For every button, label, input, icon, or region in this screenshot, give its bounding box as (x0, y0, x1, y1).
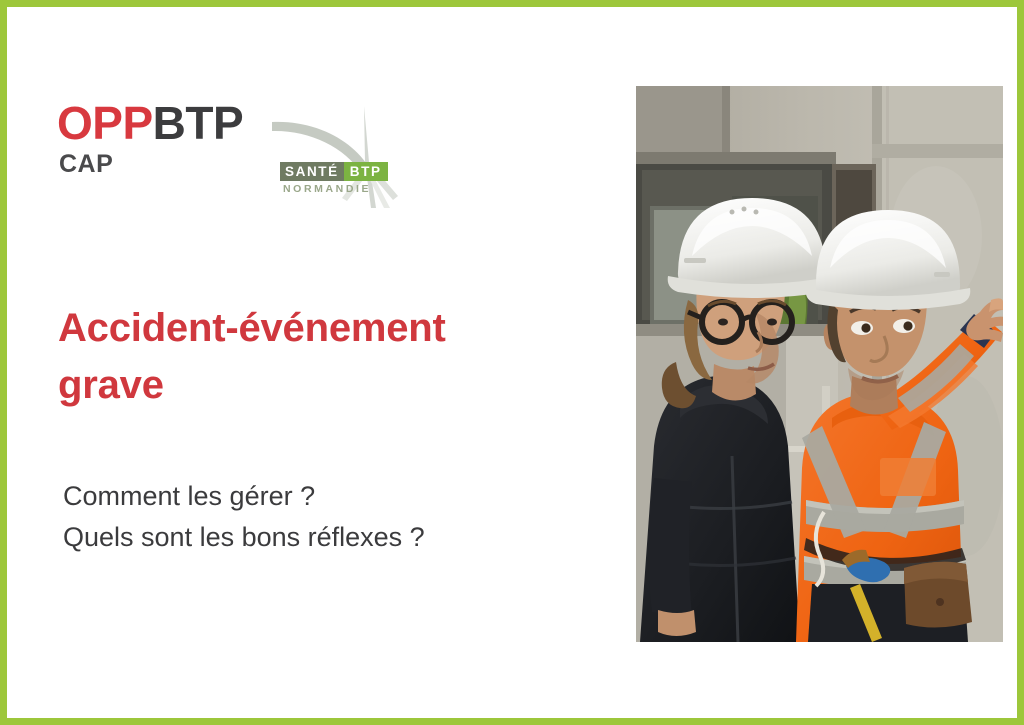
oppbtp-cap-text: CAP (59, 152, 243, 177)
normandie-label: NORMANDIE (283, 184, 371, 195)
photo-illustration (636, 86, 1003, 642)
slide-border-left (0, 0, 7, 725)
slide-border-top (0, 0, 1024, 7)
btp-label: BTP (344, 162, 388, 181)
slide-title-line-1: Accident-événement (58, 300, 578, 357)
sante-btp-wordmark: SANTÉ BTP (280, 162, 388, 181)
slide-border-right (1017, 0, 1024, 725)
subtitle-question-1: Comment les gérer ? (63, 476, 603, 517)
oppbtp-opp-text: OPP (57, 97, 153, 149)
oppbtp-wordmark: OPPBTP (57, 100, 243, 146)
subtitle-question-2: Quels sont les bons réflexes ? (63, 517, 603, 558)
construction-site-workers-photo (636, 86, 1003, 642)
slide-subtitle: Comment les gérer ? Quels sont les bons … (63, 476, 603, 558)
sante-label: SANTÉ (280, 162, 344, 181)
presentation-slide: OPPBTP CAP SANTÉ BTP NORMANDIE Accident-… (0, 0, 1024, 725)
oppbtp-btp-text: BTP (153, 97, 244, 149)
slide-title: Accident-événement grave (58, 300, 578, 414)
sante-btp-normandie-logo: SANTÉ BTP NORMANDIE (272, 104, 422, 209)
logo-zone: OPPBTP CAP SANTÉ BTP NORMANDIE (57, 100, 457, 210)
slide-title-line-2: grave (58, 357, 578, 414)
oppbtp-cap-logo: OPPBTP CAP (57, 100, 243, 177)
slide-border-bottom (0, 718, 1024, 725)
